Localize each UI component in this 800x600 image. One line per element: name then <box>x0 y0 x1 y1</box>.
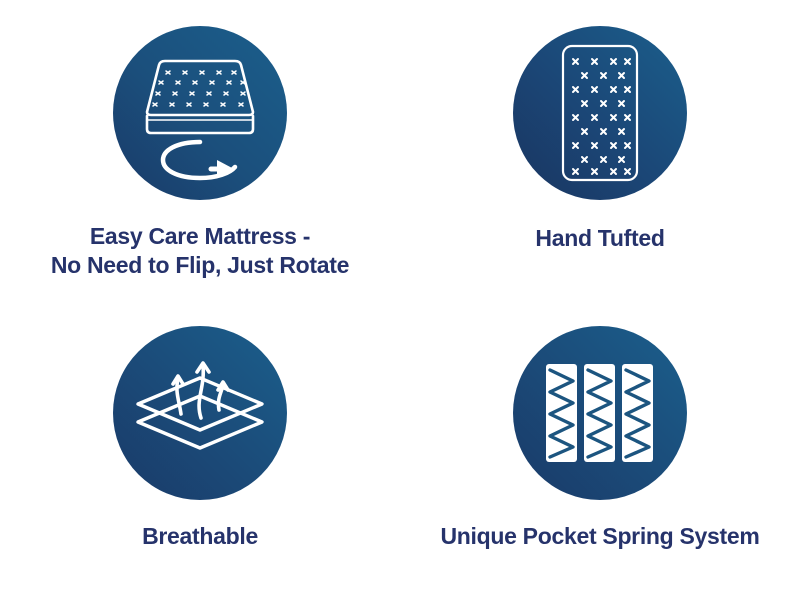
mattress-rotate-icon <box>113 26 287 200</box>
feature-grid: Easy Care Mattress - No Need to Flip, Ju… <box>0 0 800 600</box>
feature-card-hand-tufted: Hand Tufted <box>400 0 800 300</box>
feature-label-pocket-spring: Unique Pocket Spring System <box>440 522 759 551</box>
hand-tufted-icon <box>513 26 687 200</box>
breathable-layers-icon <box>113 326 287 500</box>
feature-card-pocket-spring: Unique Pocket Spring System <box>400 300 800 600</box>
spring-pockets <box>546 364 653 462</box>
feature-label-breathable: Breathable <box>142 522 258 551</box>
pocket-spring-icon <box>513 326 687 500</box>
feature-label-easy-care-mattress: Easy Care Mattress - No Need to Flip, Ju… <box>51 222 349 281</box>
feature-card-breathable: Breathable <box>0 300 400 600</box>
feature-card-easy-care-mattress: Easy Care Mattress - No Need to Flip, Ju… <box>0 0 400 300</box>
feature-label-hand-tufted: Hand Tufted <box>535 224 664 253</box>
